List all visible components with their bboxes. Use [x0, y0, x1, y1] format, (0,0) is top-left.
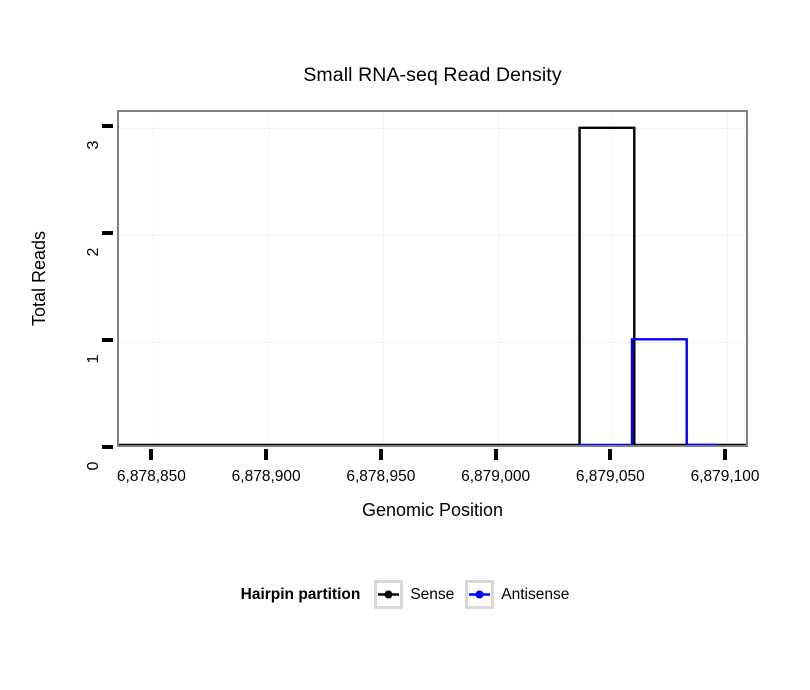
legend-label: Antisense: [501, 586, 569, 604]
chart-legend: Hairpin partition SenseAntisense: [0, 580, 810, 609]
y-axis-tick-label: 0: [85, 446, 103, 486]
y-axis-tick-label: 2: [85, 232, 103, 272]
x-axis-tick: [379, 449, 383, 460]
y-axis-tick-label: 3: [85, 125, 103, 165]
series-line-antisense: [580, 339, 717, 445]
y-axis-title: Total Reads: [28, 110, 50, 447]
y-axis-tick-label: 1: [85, 339, 103, 379]
legend-key-icon: [465, 580, 494, 609]
y-axis-tick: [102, 338, 113, 342]
x-axis-tick-label: 6,879,100: [691, 468, 760, 486]
x-axis-tick-label: 6,878,850: [117, 468, 186, 486]
x-axis-tick: [608, 449, 612, 460]
y-axis-tick: [102, 231, 113, 235]
legend-title: Hairpin partition: [241, 586, 361, 604]
plot-panel: [117, 110, 748, 447]
x-axis-tick-label: 6,878,950: [346, 468, 415, 486]
x-axis-tick-label: 6,878,900: [232, 468, 301, 486]
x-axis-tick-label: 6,879,000: [461, 468, 530, 486]
x-axis-tick: [264, 449, 268, 460]
legend-items: SenseAntisense: [374, 580, 569, 609]
legend-item-antisense[interactable]: Antisense: [465, 580, 569, 609]
data-series-layer: [119, 112, 746, 445]
plot-area: [119, 112, 746, 445]
x-axis-tick: [723, 449, 727, 460]
y-axis-tick: [102, 124, 113, 128]
chart-title: Small RNA-seq Read Density: [117, 64, 748, 87]
legend-key-icon: [374, 580, 403, 609]
y-axis-tick: [102, 445, 113, 449]
legend-label: Sense: [410, 586, 454, 604]
series-line-sense: [119, 128, 746, 445]
chart-figure: Small RNA-seq Read Density 0123 6,878,85…: [0, 0, 810, 690]
x-axis-tick: [494, 449, 498, 460]
x-axis-tick: [149, 449, 153, 460]
x-axis-title: Genomic Position: [117, 500, 748, 521]
legend-item-sense[interactable]: Sense: [374, 580, 454, 609]
x-axis-tick-label: 6,879,050: [576, 468, 645, 486]
